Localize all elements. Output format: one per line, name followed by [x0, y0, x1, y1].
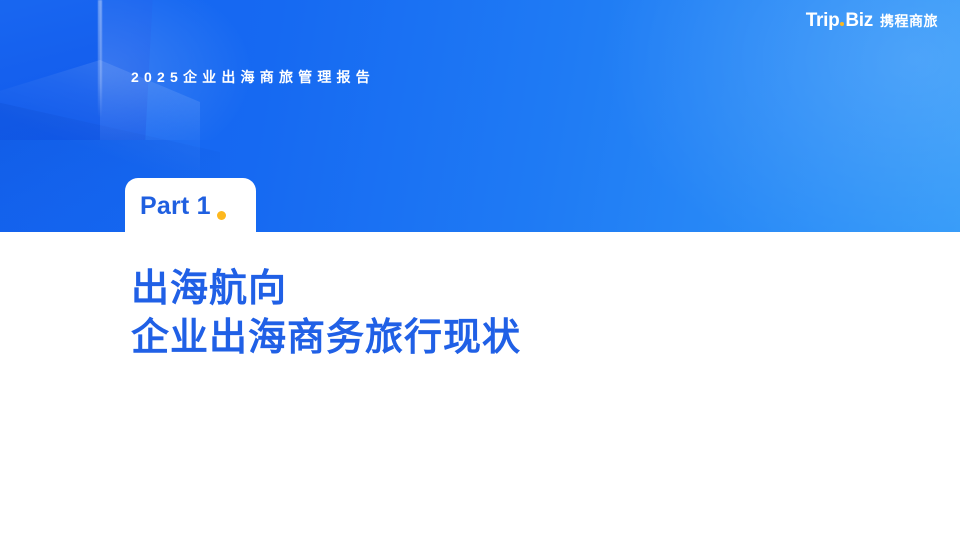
- brand-logo[interactable]: TripBiz 携程商旅: [806, 11, 938, 30]
- decorative-glow-right: [600, 0, 960, 232]
- part-badge-dot-icon: [217, 211, 226, 220]
- part-number-label: Part 1: [140, 194, 211, 219]
- section-headline-line-2: 企业出海商务旅行现状: [131, 314, 521, 363]
- part-number-badge: Part 1: [125, 178, 256, 234]
- presentation-slide: TripBiz 携程商旅 2025企业出海商旅管理报告 Part 1 出海航向 …: [0, 0, 960, 540]
- brand-logo-latin: TripBiz: [806, 11, 873, 30]
- report-title-label: 2025企业出海商旅管理报告: [131, 70, 375, 84]
- brand-logo-dot-icon: [840, 22, 844, 26]
- brand-logo-latin-suffix: Biz: [845, 10, 873, 31]
- section-headline: 出海航向 企业出海商务旅行现状: [131, 265, 521, 364]
- brand-logo-latin-text: Trip: [806, 10, 840, 31]
- brand-logo-chinese: 携程商旅: [880, 14, 938, 28]
- section-headline-line-1: 出海航向: [131, 265, 521, 314]
